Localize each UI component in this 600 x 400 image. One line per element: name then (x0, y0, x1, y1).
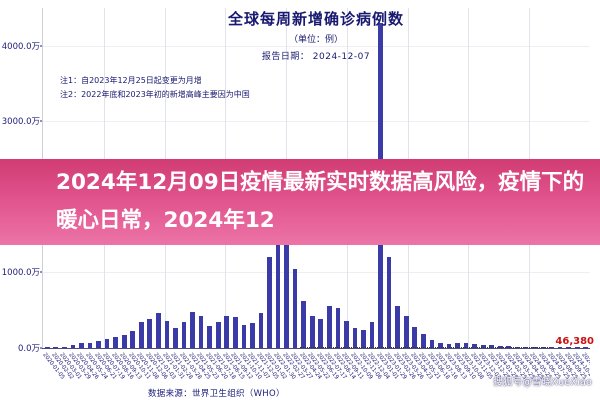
bar (199, 316, 204, 348)
bar (173, 328, 178, 348)
bar (344, 321, 349, 348)
last-value-leader-line (300, 347, 550, 349)
bar (267, 257, 272, 348)
chart-notes: 注1：自2023年12月25日起变更为月增 注2：2022年底和2023年初的新… (60, 74, 250, 102)
chart-note-2: 注2：2022年底和2023年初的新增高峰主要因为中国 (60, 88, 250, 102)
bar (293, 269, 298, 348)
bar (113, 337, 118, 348)
bar (361, 330, 366, 348)
bar (404, 316, 409, 348)
bar (165, 321, 170, 348)
bar (122, 335, 127, 348)
bar (250, 323, 255, 348)
bar (156, 313, 161, 348)
bar (105, 339, 110, 348)
bar (233, 317, 238, 348)
bar (336, 308, 341, 348)
bar (259, 313, 264, 348)
bar (182, 322, 187, 348)
bar (147, 319, 152, 348)
bar (421, 334, 426, 348)
bar (139, 322, 144, 348)
bar (284, 235, 289, 348)
screenshot-root: 0.0万1000.0万2000.0万3000.0万4000.0万 2020-01… (0, 0, 600, 400)
bar (353, 328, 358, 348)
headline-banner-text: 2024年12月09日疫情最新实时数据高风险，疫情下的暖心日常，2024年12 (12, 164, 588, 240)
bar (207, 326, 212, 348)
bar (224, 316, 229, 348)
y-axis-tick-label: 4000.0万 (0, 40, 40, 52)
y-axis-tick-label: 3000.0万 (0, 115, 40, 127)
bar (301, 301, 306, 348)
bar (318, 319, 323, 348)
last-value-annotation: 46,380 (555, 336, 594, 347)
bar (242, 325, 247, 348)
bar (216, 322, 221, 348)
chart-note-1: 注1：自2023年12月25日起变更为月增 (60, 74, 250, 88)
data-source-label: 数据来源：世界卫生组织（WHO） (148, 387, 285, 399)
bar (130, 331, 135, 348)
headline-banner: 2024年12月09日疫情最新实时数据高风险，疫情下的暖心日常，2024年12 (0, 159, 600, 245)
bar (190, 312, 195, 348)
bar (96, 341, 101, 348)
y-axis-tick-label: 1000.0万 (0, 266, 40, 278)
bar (310, 316, 315, 348)
bar (327, 306, 332, 348)
bar (395, 306, 400, 348)
bar (387, 257, 392, 348)
y-axis-tick-label: 0.0万 (0, 342, 40, 354)
bar (370, 322, 375, 348)
bar (412, 327, 417, 348)
watermark-label: 搜狐号@雪晓XueXiao (493, 374, 592, 388)
